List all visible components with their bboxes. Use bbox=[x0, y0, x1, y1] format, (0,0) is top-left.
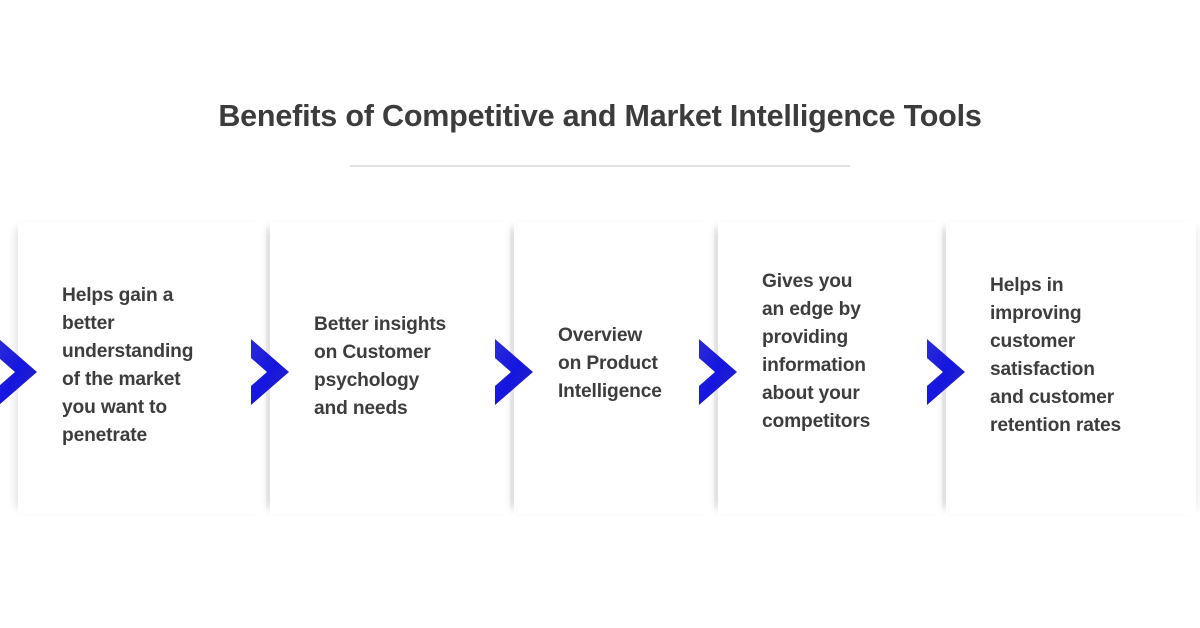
benefit-card-1-text: Helps gain a better understanding of the… bbox=[62, 282, 258, 450]
chevron-right-icon bbox=[0, 338, 40, 406]
benefit-card-5[interactable]: Helps in improving customer satisfaction… bbox=[946, 222, 1196, 514]
header: Benefits of Competitive and Market Intel… bbox=[0, 0, 1200, 167]
chevron-right-icon bbox=[696, 338, 740, 406]
benefit-card-2[interactable]: Better insights on Customer psychology a… bbox=[270, 222, 510, 514]
page-title: Benefits of Competitive and Market Intel… bbox=[0, 0, 1200, 135]
benefit-card-3[interactable]: Overview on Product Intelligence bbox=[514, 222, 714, 514]
chevron-right-icon bbox=[924, 338, 968, 406]
benefit-card-5-text: Helps in improving customer satisfaction… bbox=[990, 272, 1188, 440]
benefit-card-4-text: Gives you an edge by providing informati… bbox=[762, 268, 934, 436]
chevron-right-icon bbox=[492, 338, 536, 406]
benefit-card-2-text: Better insights on Customer psychology a… bbox=[314, 311, 502, 423]
benefits-card-row: Helps gain a better understanding of the… bbox=[0, 222, 1200, 514]
chevron-right-icon bbox=[248, 338, 292, 406]
benefit-card-3-text: Overview on Product Intelligence bbox=[558, 322, 706, 406]
title-divider bbox=[350, 165, 850, 167]
benefit-card-4[interactable]: Gives you an edge by providing informati… bbox=[718, 222, 942, 514]
infographic-canvas: ogobuzz Benefits of Competitive and Mark… bbox=[0, 0, 1200, 628]
benefit-card-1[interactable]: Helps gain a better understanding of the… bbox=[18, 222, 266, 514]
